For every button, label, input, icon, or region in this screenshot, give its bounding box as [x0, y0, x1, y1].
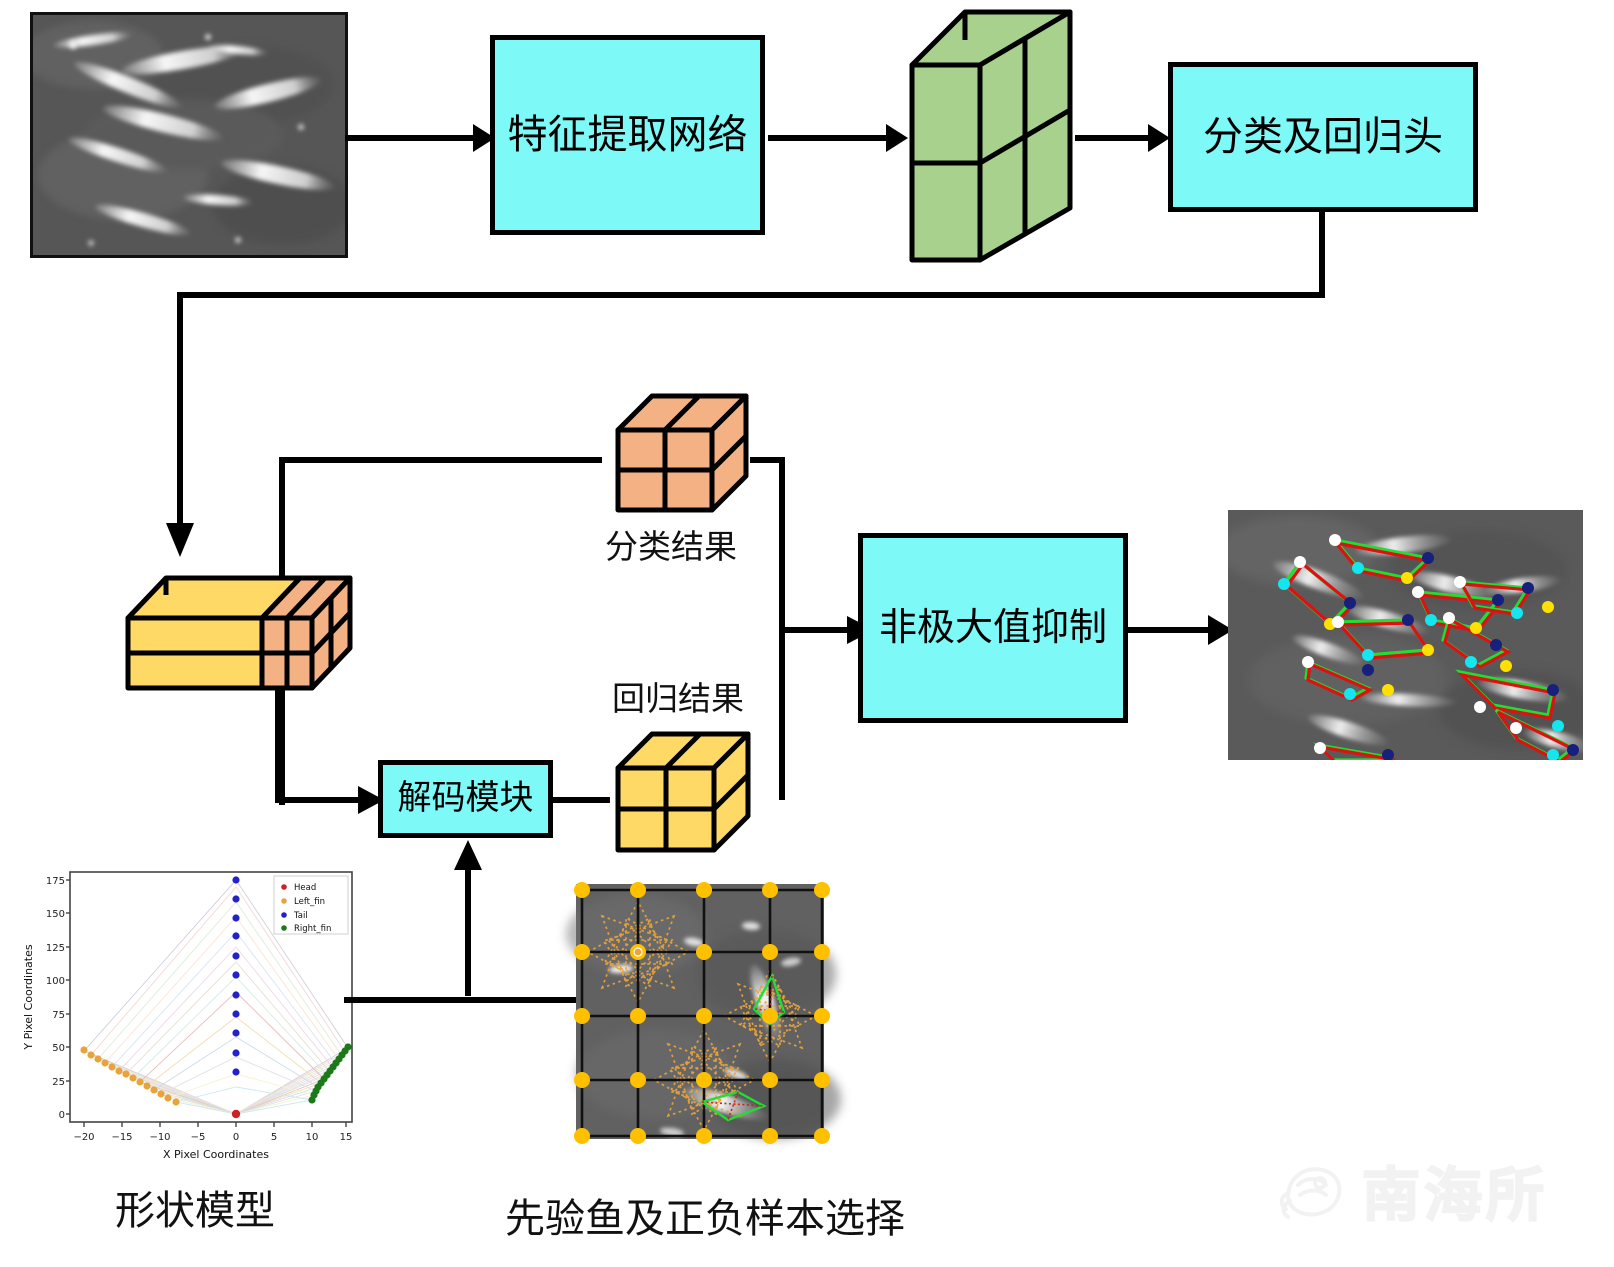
watermark-text: 南海所: [1362, 1148, 1548, 1232]
svg-text:0: 0: [233, 1132, 239, 1143]
legend-label-tail: Tail: [293, 911, 308, 921]
caption-shape-model: 形状模型: [40, 1178, 350, 1236]
detection-result-image: [1228, 510, 1583, 760]
prior-feature-cube: [118, 550, 358, 695]
caption-prior-sample: 先验鱼及正负样本选择: [505, 1186, 905, 1244]
prior-grid-image: [576, 884, 824, 1139]
box-nms[interactable]: 非极大值抑制: [858, 533, 1128, 723]
svg-text:5: 5: [271, 1132, 277, 1143]
box-decode-module-label: 解码模块: [398, 780, 534, 817]
box-cls-reg-head[interactable]: 分类及回归头: [1168, 62, 1478, 212]
svg-text:−5: −5: [191, 1132, 206, 1143]
fish-logo-icon: [1278, 1157, 1350, 1223]
box-nms-label: 非极大值抑制: [879, 607, 1107, 649]
svg-text:−20: −20: [73, 1132, 94, 1143]
svg-text:75: 75: [52, 1010, 65, 1021]
prior-grid-canvas: [576, 884, 824, 1139]
arrow-cube-to-head: [1075, 118, 1170, 158]
detection-result-canvas: [1228, 510, 1583, 760]
arrow-input-to-feature: [345, 118, 495, 158]
classification-cube: [600, 382, 750, 522]
chart-ylabel: Y Pixel Coordinates: [22, 944, 35, 1050]
path-feature-cube-to-decode: [262, 690, 392, 820]
svg-text:0: 0: [59, 1110, 65, 1121]
svg-text:25: 25: [52, 1077, 65, 1088]
watermark: 南海所: [1278, 1148, 1548, 1232]
chart-legend: Head Left_fin Tail Right_fin: [274, 876, 348, 934]
shape-model-chart-canvas: 175150 125100 7550 250 −20−15 −10−5: [18, 862, 370, 1174]
regression-cube: [600, 718, 760, 863]
legend-label-head: Head: [294, 883, 316, 893]
chart-xlabel: X Pixel Coordinates: [163, 1148, 269, 1161]
svg-text:−10: −10: [149, 1132, 170, 1143]
box-feature-extraction-label: 特征提取网络: [508, 113, 748, 157]
legend-label-right-fin: Right_fin: [294, 924, 331, 934]
svg-text:50: 50: [52, 1043, 65, 1054]
svg-text:150: 150: [46, 909, 65, 920]
box-cls-reg-head-label: 分类及回归头: [1203, 115, 1443, 159]
shape-model-chart: 175150 125100 7550 250 −20−15 −10−5: [18, 862, 370, 1174]
svg-text:−15: −15: [111, 1132, 132, 1143]
chart-point-head: [232, 1110, 240, 1118]
svg-text:100: 100: [46, 976, 65, 987]
arrow-prior-to-decode: [448, 838, 488, 998]
svg-text:175: 175: [46, 876, 65, 887]
box-decode-module[interactable]: 解码模块: [378, 760, 553, 838]
svg-text:125: 125: [46, 943, 65, 954]
arrow-nms-to-result: [1128, 610, 1233, 650]
label-classification-result: 分类结果: [605, 520, 737, 568]
arrow-feature-to-cube: [768, 118, 908, 158]
diagram-canvas: 特征提取网络 分类及回归头: [0, 0, 1614, 1267]
svg-text:10: 10: [306, 1132, 319, 1143]
legend-label-left-fin: Left_fin: [294, 897, 325, 907]
svg-text:15: 15: [340, 1132, 353, 1143]
label-regression-result: 回归结果: [612, 672, 744, 720]
